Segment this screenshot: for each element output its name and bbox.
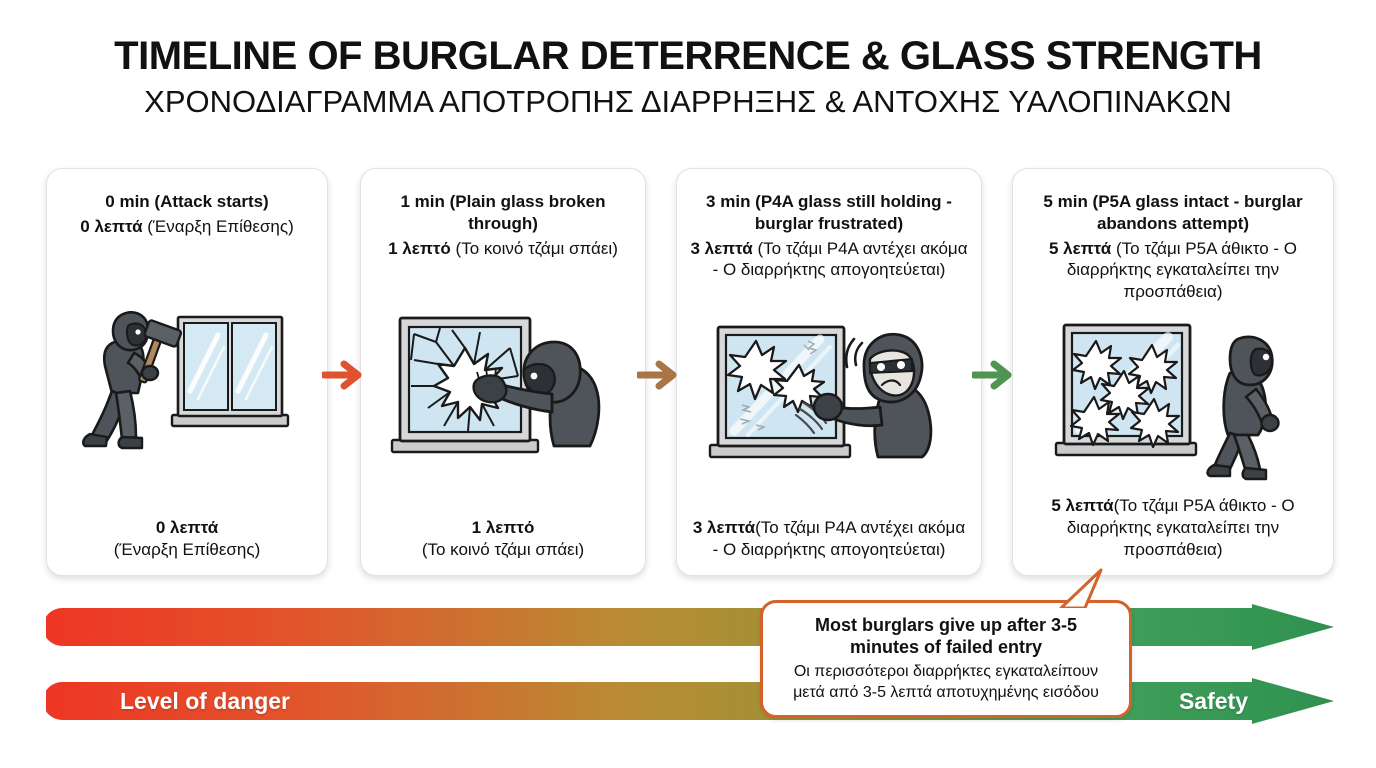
danger-label: Level of danger <box>120 678 290 724</box>
card-footer-bold: 3 λεπτά <box>693 518 755 537</box>
card-illustration-p4a-holding <box>689 281 969 517</box>
card-header-el-rest: (Έναρξη Επίθεσης) <box>143 217 294 236</box>
card-header-el: 3 λεπτά (Το τζάμι P4A αντέχει ακόμα - Ο … <box>689 238 969 282</box>
connector-arrow-3 <box>972 358 1016 392</box>
card-header-en: 1 min (Plain glass broken through) <box>373 191 633 235</box>
timeline-cards: 0 min (Attack starts) 0 λεπτά (Έναρξη Επ… <box>46 168 1334 576</box>
page-title-en: TIMELINE OF BURGLAR DETERRENCE & GLASS S… <box>0 34 1376 79</box>
card-footer-bold: 1 λεπτό <box>472 518 535 537</box>
burglar-reaching-through-shattered-window-icon <box>384 304 622 472</box>
callout-en-line1: Most burglars give up after 3-5 <box>815 615 1077 635</box>
callout-text-el: Οι περισσότεροι διαρρήκτες εγκαταλείπουν… <box>793 662 1099 703</box>
callout-tail <box>1055 568 1105 608</box>
card-illustration-p5a-intact <box>1025 303 1321 495</box>
card-header-en: 0 min (Attack starts) <box>80 191 293 213</box>
arrow-right-icon <box>322 358 366 392</box>
burglar-with-hammer-approaching-intact-window-icon <box>72 287 302 467</box>
card-footer: 3 λεπτά(Το τζάμι P4A αντέχει ακόμα - Ο δ… <box>689 517 969 561</box>
timeline-card-1min[interactable]: 1 min (Plain glass broken through) 1 λεπ… <box>360 168 646 576</box>
page-title-block: TIMELINE OF BURGLAR DETERRENCE & GLASS S… <box>0 34 1376 120</box>
callout-en-line2: minutes of failed entry <box>850 637 1042 657</box>
burglar-walking-away-from-intact-impacted-window-icon <box>1044 315 1302 483</box>
card-header-el: 5 λεπτά (Το τζάμι P5A άθικτο - Ο διαρρήκ… <box>1025 238 1321 303</box>
card-header-en: 3 min (P4A glass still holding - burglar… <box>689 191 969 235</box>
card-header-el-rest: (Το κοινό τζάμι σπάει) <box>451 239 618 258</box>
safety-label: Safety <box>1179 678 1248 724</box>
card-header: 0 min (Attack starts) 0 λεπτά (Έναρξη Επ… <box>80 191 293 238</box>
card-header-el-bold: 1 λεπτό <box>388 239 451 258</box>
card-footer: 0 λεπτά (Έναρξη Επίθεσης) <box>114 517 260 561</box>
card-header: 5 min (P5A glass intact - burglar abando… <box>1025 191 1321 303</box>
timeline-card-3min[interactable]: 3 min (P4A glass still holding - burglar… <box>676 168 982 576</box>
card-footer-bold: 5 λεπτά <box>1051 496 1113 515</box>
arrow-right-icon <box>637 358 681 392</box>
card-header-el-bold: 3 λεπτά <box>690 239 752 258</box>
timeline-card-5min[interactable]: 5 min (P5A glass intact - burglar abando… <box>1012 168 1334 576</box>
infographic-page: TIMELINE OF BURGLAR DETERRENCE & GLASS S… <box>0 0 1376 768</box>
card-header-en: 5 min (P5A glass intact - burglar abando… <box>1025 191 1321 235</box>
timeline-card-0min[interactable]: 0 min (Attack starts) 0 λεπτά (Έναρξη Επ… <box>46 168 328 576</box>
callout-el-line2: μετά από 3-5 λεπτά αποτυχημένης εισόδου <box>793 684 1099 701</box>
card-footer-bold: 0 λεπτά <box>156 518 218 537</box>
card-header-el: 0 λεπτά (Έναρξη Επίθεσης) <box>80 216 293 238</box>
card-header-el: 1 λεπτό (Το κοινό τζάμι σπάει) <box>373 238 633 260</box>
scale-bar-top <box>46 604 1334 650</box>
danger-safety-scale: Level of danger Safety <box>46 604 1334 728</box>
card-illustration-broken-window <box>373 259 633 517</box>
card-header: 1 min (Plain glass broken through) 1 λεπ… <box>373 191 633 259</box>
card-footer: 1 λεπτό (Το κοινό τζάμι σπάει) <box>422 517 584 561</box>
connector-arrow-1 <box>322 358 366 392</box>
frustrated-burglar-hitting-cracked-but-holding-window-icon <box>700 315 958 483</box>
callout-el-line1: Οι περισσότεροι διαρρήκτες εγκαταλείπουν <box>794 663 1098 680</box>
callout-box[interactable]: Most burglars give up after 3-5 minutes … <box>760 600 1132 718</box>
connector-arrow-2 <box>637 358 681 392</box>
callout-text-en: Most burglars give up after 3-5 minutes … <box>815 615 1077 659</box>
card-footer-rest: (Το κοινό τζάμι σπάει) <box>422 540 584 559</box>
arrow-right-icon <box>972 358 1016 392</box>
card-header: 3 min (P4A glass still holding - burglar… <box>689 191 969 281</box>
card-footer: 5 λεπτά(Το τζάμι P5A άθικτο - Ο διαρρήκτ… <box>1025 495 1321 561</box>
card-illustration-burglar-with-hammer <box>59 238 315 517</box>
gradient-arrow-bar-top <box>46 604 1334 650</box>
page-title-el: ΧΡΟΝΟΔΙΑΓΡΑΜΜΑ ΑΠΟΤΡΟΠΗΣ ΔΙΑΡΡΗΞΗΣ & ΑΝΤ… <box>0 83 1376 120</box>
card-header-el-bold: 5 λεπτά <box>1049 239 1111 258</box>
card-header-el-bold: 0 λεπτά <box>80 217 142 236</box>
card-footer-rest: (Έναρξη Επίθεσης) <box>114 540 260 559</box>
